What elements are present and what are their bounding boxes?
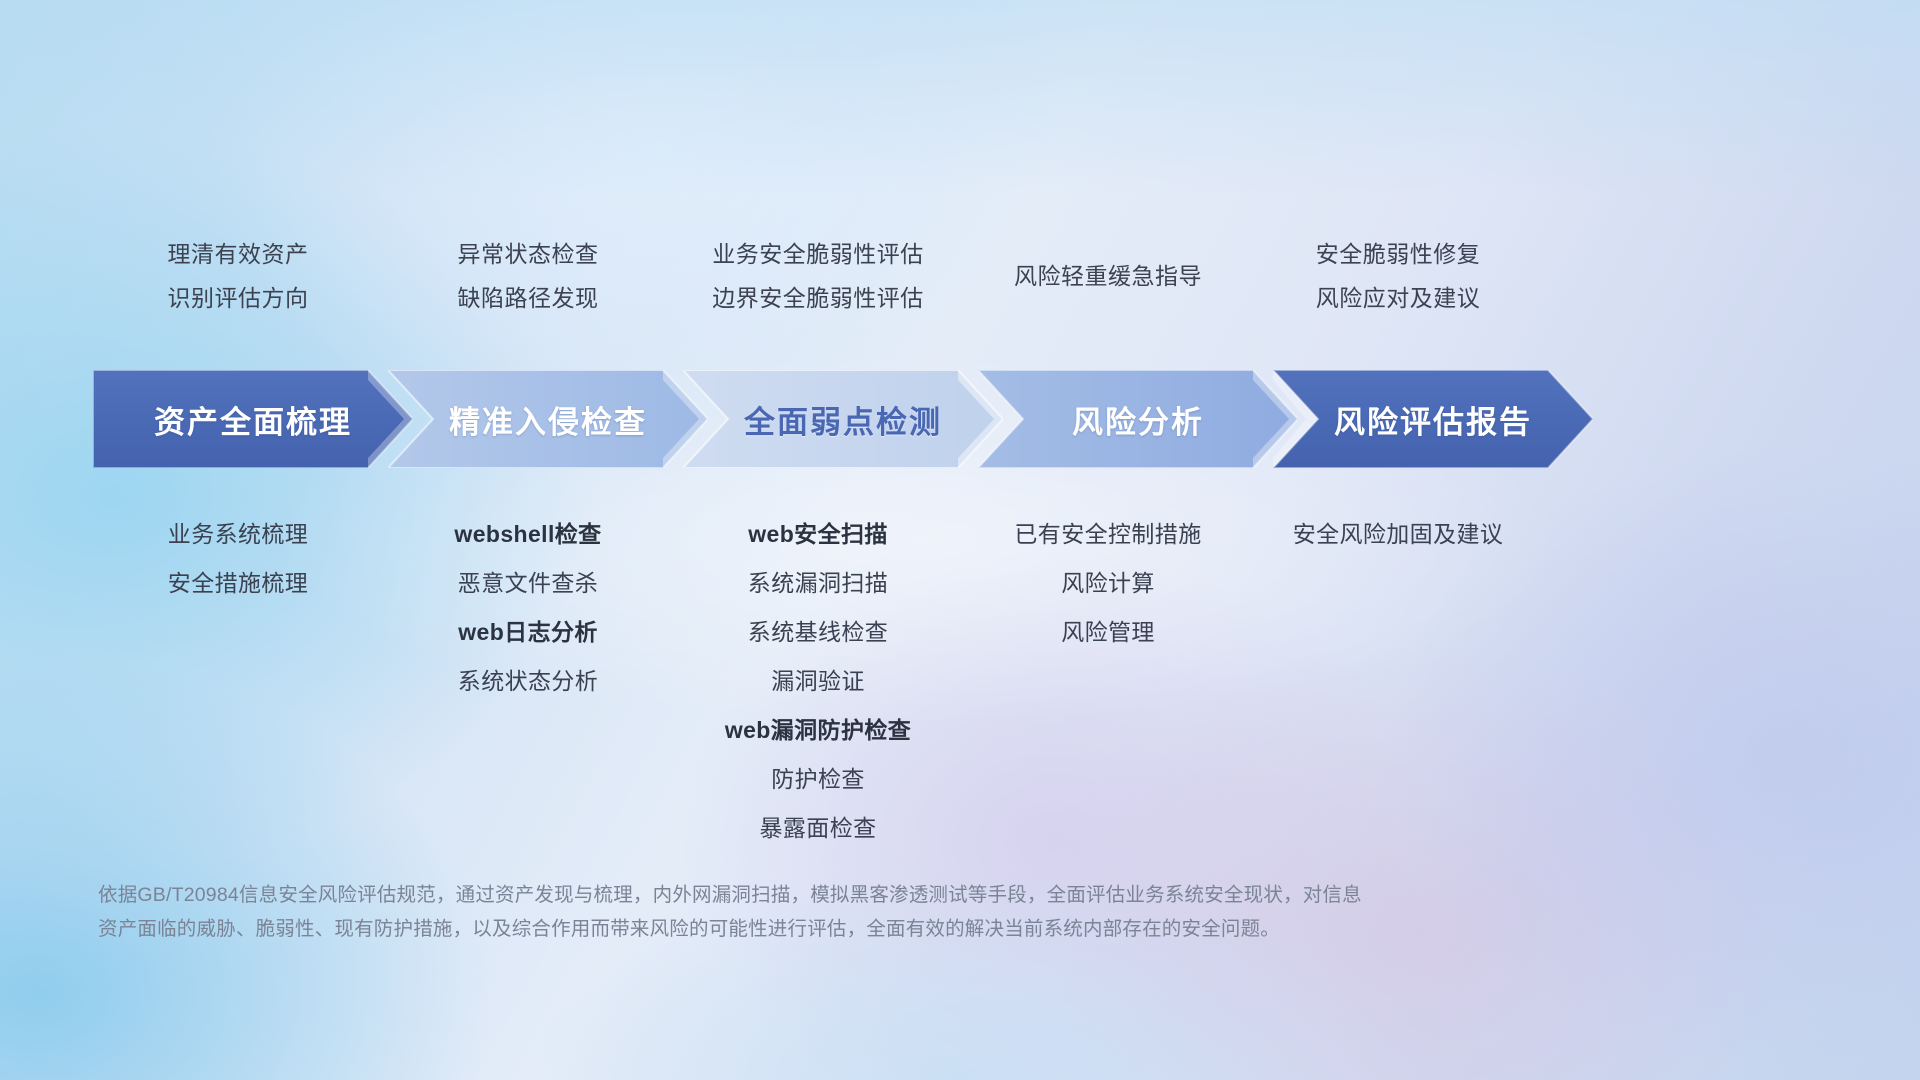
stage-bottom-item: 系统漏洞扫描: [673, 559, 963, 608]
stage-top-item: 识别评估方向: [93, 276, 383, 320]
process-arrow-label: 风险分析: [1072, 397, 1204, 442]
process-arrow-intrusion-check[interactable]: 精准入侵检查: [388, 370, 708, 468]
stage-bottom-item: 漏洞验证: [673, 657, 963, 706]
stage-top-list: 风险轻重缓急指导: [963, 254, 1253, 298]
stage-bottom-item: webshell检查: [383, 510, 673, 559]
process-arrow-band: 资产全面梳理 精准入侵检查 全面弱点检测: [0, 370, 1920, 468]
stage-bottom-list: 安全风险加固及建议: [1253, 510, 1543, 559]
stage-top-list: 理清有效资产 识别评估方向: [93, 232, 383, 320]
stage-bottom-item: web漏洞防护检查: [673, 706, 963, 755]
stage-bottom-item: 安全措施梳理: [93, 559, 383, 608]
stage-bottom-item: 已有安全控制措施: [963, 510, 1253, 559]
footer-description: 依据GB/T20984信息安全风险评估规范，通过资产发现与梳理，内外网漏洞扫描，…: [98, 878, 1658, 946]
stage-top-item: 业务安全脆弱性评估: [673, 232, 963, 276]
stage-bottom-item: 风险管理: [963, 608, 1253, 657]
stage-top-item: 缺陷路径发现: [383, 276, 673, 320]
stage-top-item: 风险轻重缓急指导: [963, 254, 1253, 298]
process-arrow-label: 精准入侵检查: [449, 397, 647, 442]
stage-bottom-item: 防护检查: [673, 755, 963, 804]
stage-bottom-item: 暴露面检查: [673, 804, 963, 853]
stage-bottom-item: 风险计算: [963, 559, 1253, 608]
process-arrow-label: 风险评估报告: [1334, 397, 1532, 442]
process-arrow-weakness-detection[interactable]: 全面弱点检测: [683, 370, 1003, 468]
process-arrow-label: 全面弱点检测: [744, 397, 942, 442]
stage-bottom-item: 系统状态分析: [383, 657, 673, 706]
stage-top-list: 安全脆弱性修复 风险应对及建议: [1253, 232, 1543, 320]
footer-line: 资产面临的威胁、脆弱性、现有防护措施，以及综合作用而带来风险的可能性进行评估，全…: [98, 912, 1658, 946]
stage-top-item: 边界安全脆弱性评估: [673, 276, 963, 320]
process-arrow-risk-analysis[interactable]: 风险分析: [978, 370, 1298, 468]
stage-bottom-item: 业务系统梳理: [93, 510, 383, 559]
process-arrow-assessment-report[interactable]: 风险评估报告: [1273, 370, 1593, 468]
stage-bottom-item: web安全扫描: [673, 510, 963, 559]
stage-top-list: 异常状态检查 缺陷路径发现: [383, 232, 673, 320]
stage-bottom-list: web安全扫描 系统漏洞扫描 系统基线检查 漏洞验证 web漏洞防护检查 防护检…: [673, 510, 963, 853]
stage-top-item: 安全脆弱性修复: [1253, 232, 1543, 276]
stage-bottom-item: 恶意文件查杀: [383, 559, 673, 608]
stage-bottom-list: 已有安全控制措施 风险计算 风险管理: [963, 510, 1253, 657]
process-arrow-label: 资产全面梳理: [154, 397, 352, 442]
stage-top-item: 理清有效资产: [93, 232, 383, 276]
stage-top-item: 风险应对及建议: [1253, 276, 1543, 320]
stage-bottom-item: 系统基线检查: [673, 608, 963, 657]
process-arrow-asset-inventory[interactable]: 资产全面梳理: [93, 370, 413, 468]
stage-top-list: 业务安全脆弱性评估 边界安全脆弱性评估: [673, 232, 963, 320]
stage-bottom-list: 业务系统梳理 安全措施梳理: [93, 510, 383, 608]
stage-bottom-list: webshell检查 恶意文件查杀 web日志分析 系统状态分析: [383, 510, 673, 706]
stage-top-item: 异常状态检查: [383, 232, 673, 276]
stage-bottom-item: web日志分析: [383, 608, 673, 657]
stage-bottom-item: 安全风险加固及建议: [1253, 510, 1543, 559]
footer-line: 依据GB/T20984信息安全风险评估规范，通过资产发现与梳理，内外网漏洞扫描，…: [98, 878, 1658, 912]
